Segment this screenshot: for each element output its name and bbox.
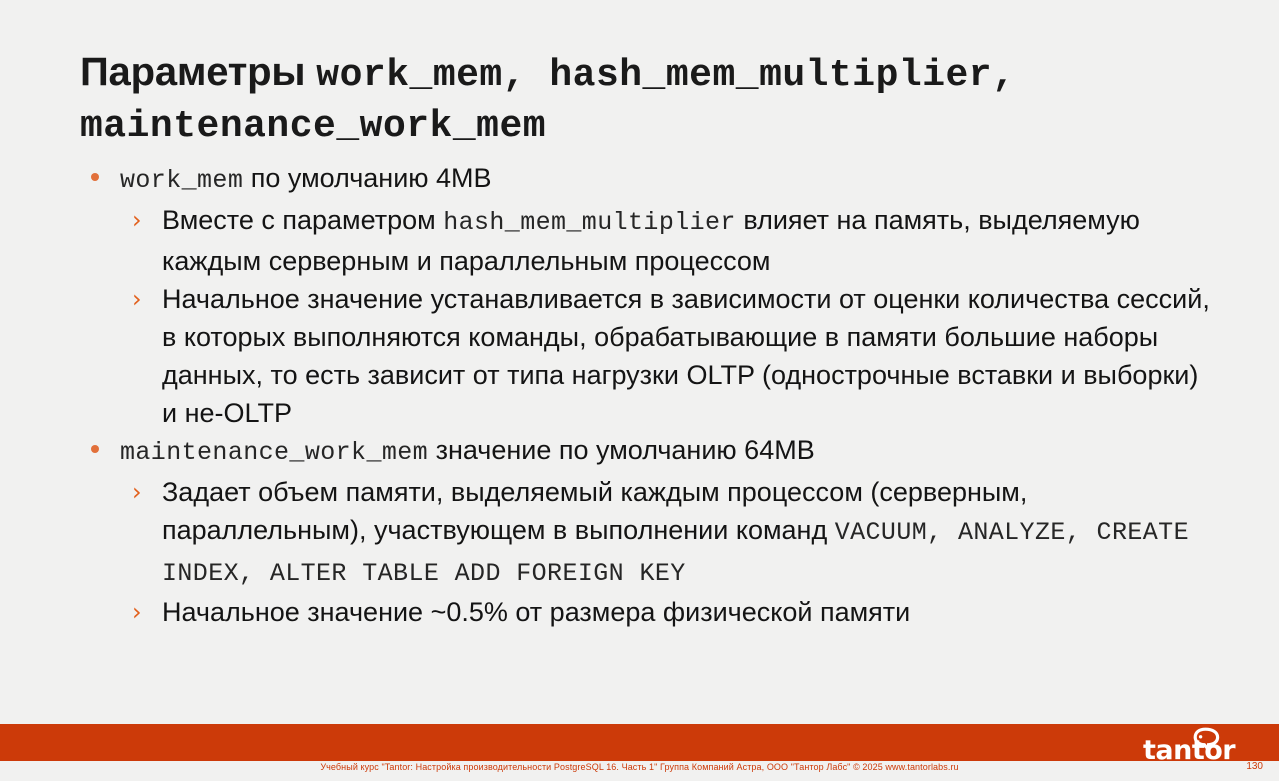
chevron-bullet-icon: › [132,593,142,631]
chevron-bullet-icon: › [132,280,142,318]
bullet-text: по умолчанию 4MB [243,163,491,193]
slide-title: Параметры work_mem, hash_mem_multiplier,… [80,48,1210,151]
bullet-item-level2: ›Начальное значение ~0.5% от размера физ… [120,593,1210,631]
chevron-bullet-icon: › [132,201,142,239]
dot-bullet-icon [91,445,99,453]
dot-bullet-icon [91,173,99,181]
title-word-parametry: Параметры [80,50,316,94]
slide-page-number: 130 [1246,761,1263,772]
chevron-bullet-icon: › [132,473,142,511]
bullet-text: Вместе с параметром [162,205,443,235]
bullet-text: значение по умолчанию 64MB [428,435,815,465]
inline-code-text: work_mem [120,166,243,195]
bullet-text: Начальное значение ~0.5% от размера физи… [162,597,910,627]
bullet-item-level2: ›Вместе с параметром hash_mem_multiplier… [120,201,1210,280]
bullet-item-level1: work_mem по умолчанию 4MB [80,160,1210,199]
slide-root: Параметры work_mem, hash_mem_multiplier,… [0,0,1279,781]
bullet-list: work_mem по умолчанию 4MB›Вместе с парам… [80,160,1210,631]
bullet-item-level2: ›Задает объем памяти, выделяемый каждым … [120,473,1210,593]
title-code-line-1: work_mem, hash_mem_multiplier, [316,54,1015,97]
bullet-item-level2: ›Начальное значение устанавливается в за… [120,280,1210,432]
footer-copyright-note: Учебный курс "Tantor: Настройка производ… [0,762,1279,772]
bullet-text: Начальное значение устанавливается в зав… [162,284,1210,428]
bullet-item-level1: maintenance_work_mem значение по умолчан… [80,432,1210,471]
inline-code-text: hash_mem_multiplier [443,208,736,237]
tantor-wordmark: tantor [1143,735,1236,762]
tantor-logo: tantor [1143,726,1255,762]
inline-code-text: maintenance_work_mem [120,438,428,467]
footer-accent-bar [0,724,1279,761]
title-code-line-2: maintenance_work_mem [80,105,546,148]
